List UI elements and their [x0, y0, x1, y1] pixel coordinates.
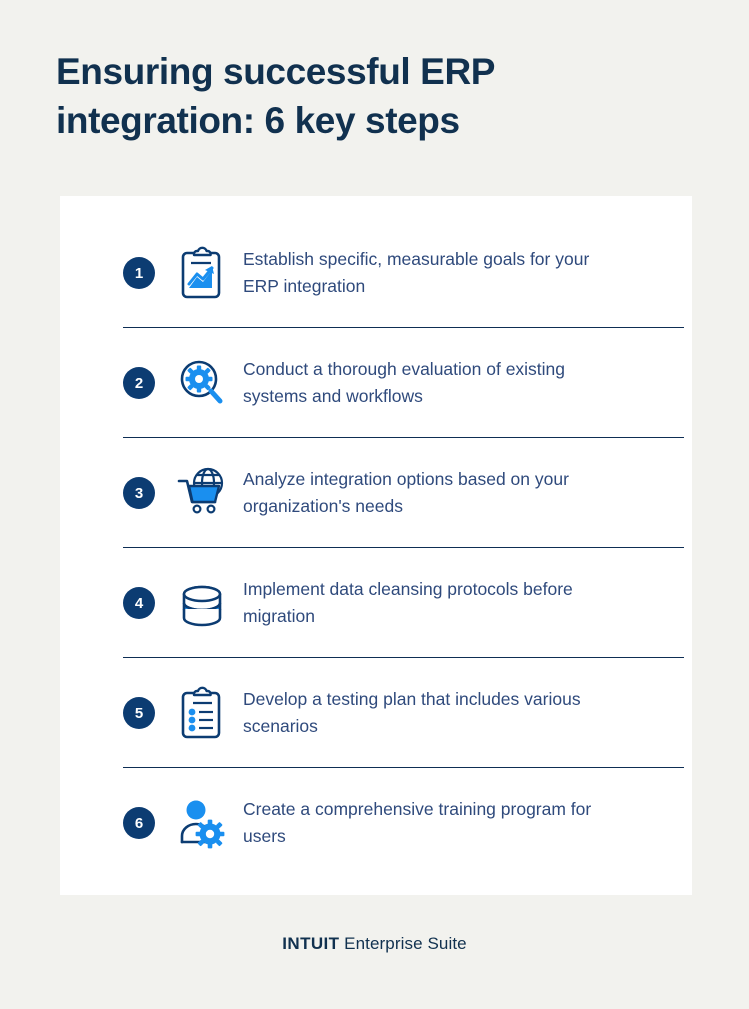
- intuit-wordmark: INTUIT: [282, 934, 339, 953]
- step-text: Implement data cleansing protocols befor…: [243, 576, 613, 629]
- infographic-page: Ensuring successful ERP integration: 6 k…: [0, 0, 749, 1009]
- magnifier-gear-icon: [171, 356, 233, 410]
- checklist-icon: [171, 685, 233, 741]
- step-number-badge: 4: [123, 587, 155, 619]
- step-number-badge: 6: [123, 807, 155, 839]
- page-title: Ensuring successful ERP integration: 6 k…: [56, 48, 616, 146]
- steps-card: 1 Establish specific, measurable goals f…: [60, 196, 692, 895]
- clipboard-chart-icon: [171, 246, 233, 300]
- user-gear-icon: [171, 796, 233, 850]
- cart-globe-icon: [171, 466, 233, 520]
- step-number-badge: 2: [123, 367, 155, 399]
- step-text: Analyze integration options based on you…: [243, 466, 613, 519]
- step-text: Establish specific, measurable goals for…: [243, 246, 613, 299]
- step-number-badge: 5: [123, 697, 155, 729]
- step-text: Conduct a thorough evaluation of existin…: [243, 356, 613, 409]
- step-row: 6: [60, 768, 692, 878]
- footer-logo: INTUIT Enterprise Suite: [0, 934, 749, 954]
- step-number-badge: 3: [123, 477, 155, 509]
- step-text: Create a comprehensive training program …: [243, 796, 613, 849]
- steps-list: 1 Establish specific, measurable goals f…: [60, 196, 692, 878]
- database-icon: [171, 575, 233, 631]
- step-row: 5 Develop a testing plan that inclu: [60, 658, 692, 768]
- step-number-badge: 1: [123, 257, 155, 289]
- step-row: 4 Implement data cleansing protocols bef…: [60, 548, 692, 658]
- step-text: Develop a testing plan that includes var…: [243, 686, 613, 739]
- step-row: 3: [60, 438, 692, 548]
- step-row: 2: [60, 328, 692, 438]
- step-row: 1 Establish specific, measurable goals f…: [60, 218, 692, 328]
- product-name: Enterprise Suite: [344, 934, 467, 953]
